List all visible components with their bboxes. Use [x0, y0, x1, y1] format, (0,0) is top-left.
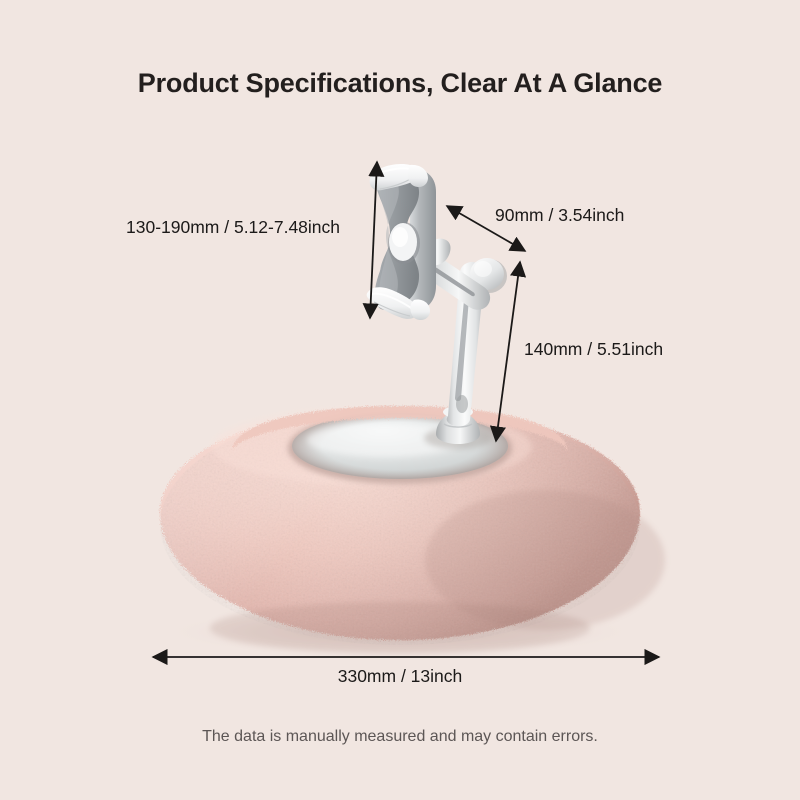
dimension-label-diameter: 330mm / 13inch	[0, 666, 800, 687]
dimension-label-depth: 140mm / 5.51inch	[524, 339, 663, 360]
disclaimer-note: The data is manually measured and may co…	[0, 728, 800, 746]
dimension-label-height: 130-190mm / 5.12-7.48inch	[126, 217, 340, 238]
tablet-clamp	[367, 164, 436, 320]
dimension-label-width: 90mm / 3.54inch	[495, 205, 624, 226]
page-title: Product Specifications, Clear At A Glanc…	[0, 68, 800, 99]
inner-bowl	[288, 412, 512, 484]
specification-diagram: Product Specifications, Clear At A Glanc…	[0, 0, 800, 800]
